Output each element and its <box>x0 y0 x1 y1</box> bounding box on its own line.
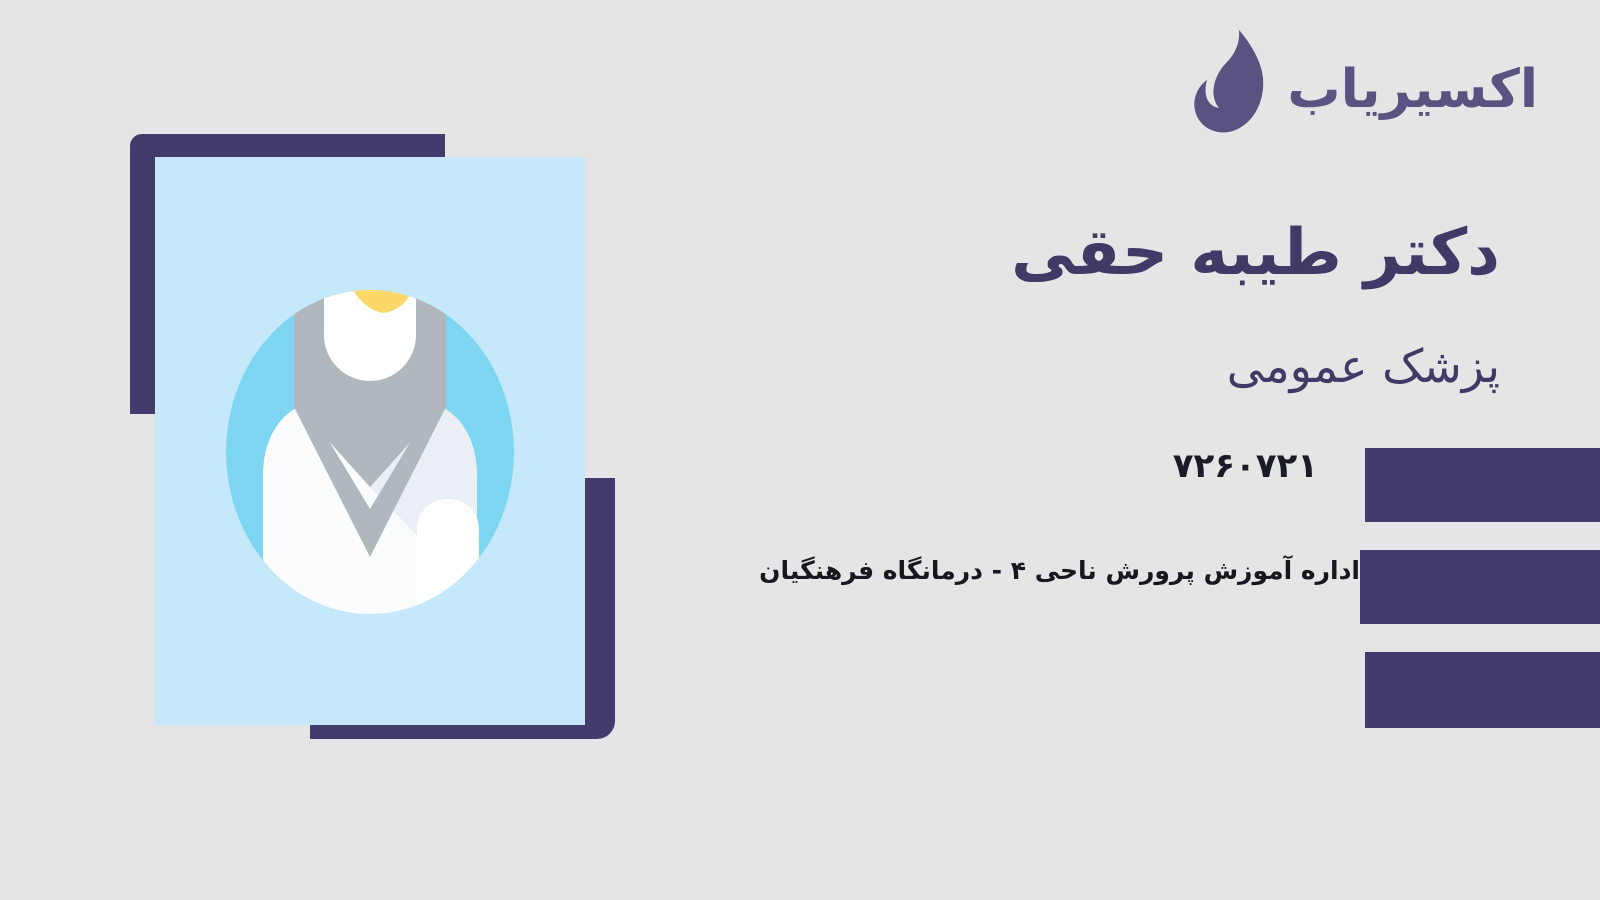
portrait-illustration <box>0 0 700 900</box>
doctor-photo-card <box>155 157 585 725</box>
doctor-address: اداره آموزش پرورش ناحی ۴ - درمانگاه فرهن… <box>759 556 1360 585</box>
doctor-code: ۷۲۶۰۷۲۱ <box>1173 446 1318 486</box>
doctor-specialty: پزشک عمومی <box>1227 340 1500 393</box>
doctor-name: دکتر طیبه حقی <box>1011 218 1500 288</box>
accent-bar-bottom <box>1365 652 1600 728</box>
doctor-profile-card: اکسیریاب <box>0 0 1600 900</box>
accent-bar-middle <box>1360 550 1600 624</box>
accent-bar-top <box>1365 448 1600 522</box>
doctor-avatar-icon <box>155 157 585 725</box>
